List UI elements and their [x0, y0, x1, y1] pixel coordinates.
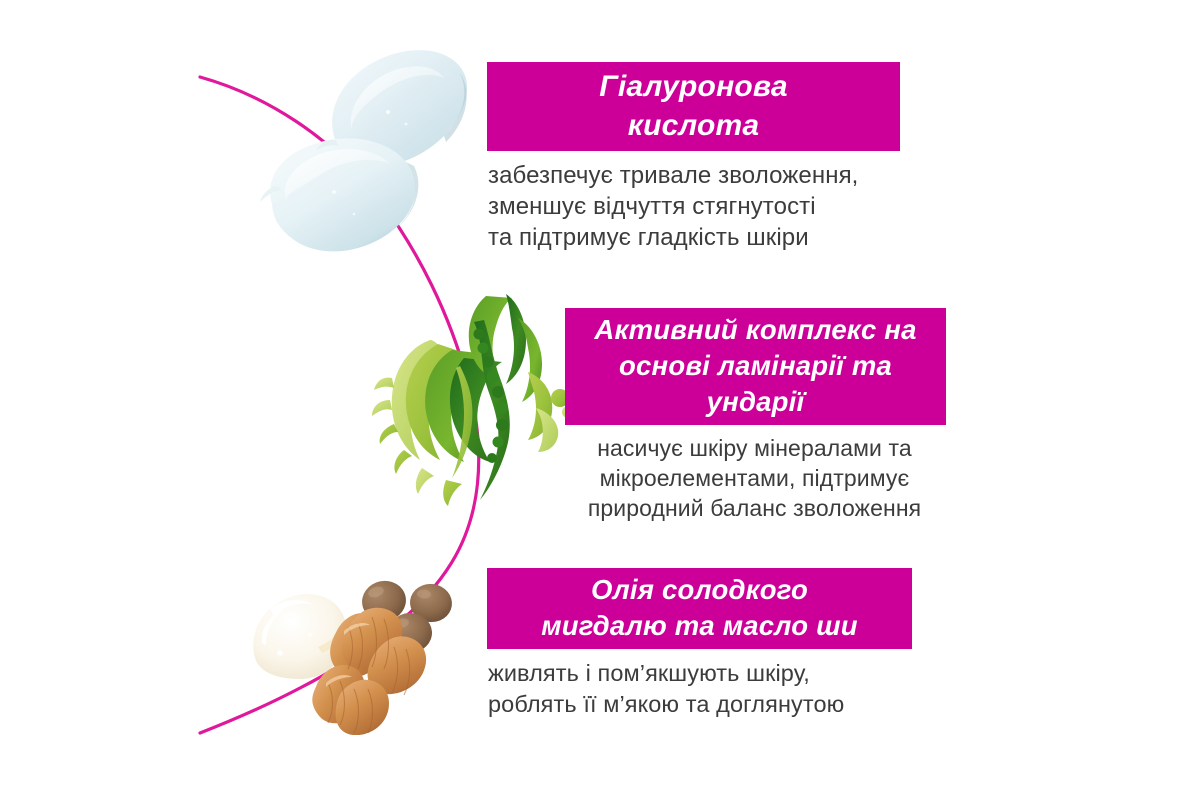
infographic-canvas: Гіалуронова кислота забезпечує тривале з… [0, 0, 1200, 800]
ingredient-title-line: основі ламінарії та [565, 348, 946, 384]
ingredient-title-line: ундарії [565, 384, 946, 420]
ingredient-title-banner: Активний комплекс на основі ламінарії та… [565, 308, 946, 425]
ingredient-description: живлять і пом’якшують шкіру, роблять її … [487, 658, 912, 720]
ingredient-title-line: кислота [487, 106, 900, 145]
ingredient-title-banner: Олія солодкого мигдалю та масло ши [487, 568, 912, 649]
ingredient-title-line: Активний комплекс на [565, 312, 946, 348]
gel-swatch-icon [248, 28, 478, 278]
ingredient-block-algae-complex: Активний комплекс на основі ламінарії та… [565, 308, 946, 523]
ingredient-block-hyaluronic-acid: Гіалуронова кислота забезпечує тривале з… [487, 62, 900, 253]
ingredient-title-line: Гіалуронова [487, 67, 900, 106]
ingredient-description: насичує шкіру мінералами та мікроелемент… [563, 433, 946, 523]
ingredient-description: забезпечує тривале зволоження, зменшує в… [487, 160, 900, 253]
ingredient-title-line: Олія солодкого [487, 572, 912, 608]
ingredient-title-line: мигдалю та масло ши [487, 608, 912, 644]
seaweed-icon [368, 278, 578, 513]
almond-shea-icon [248, 565, 463, 735]
ingredient-block-almond-oil-shea-butter: Олія солодкого мигдалю та масло ши живля… [487, 568, 912, 720]
ingredient-title-banner: Гіалуронова кислота [487, 62, 900, 151]
